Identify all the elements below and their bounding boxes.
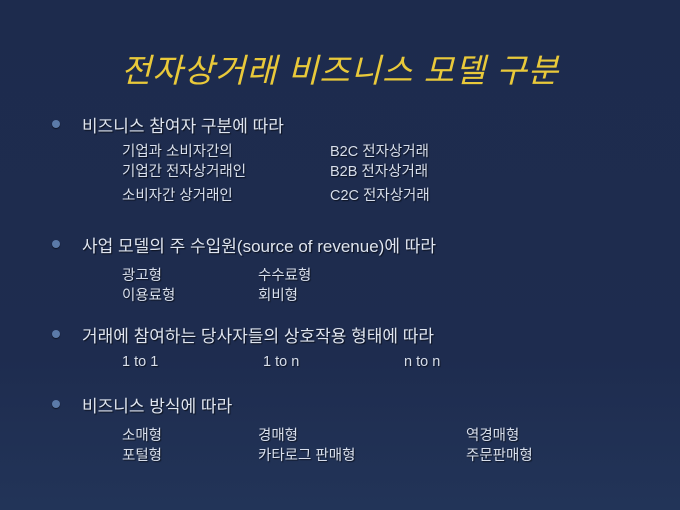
- sub-rows-3: 1 to 1 1 to n n to n: [0, 354, 680, 374]
- bullet-section-3: 거래에 참여하는 당사자들의 상호작용 형태에 따라 1 to 1 1 to n…: [0, 320, 680, 374]
- bullet-label-3: 거래에 참여하는 당사자들의 상호작용 형태에 따라: [82, 322, 434, 347]
- sub-rows-4: 소매형 경매형 역경매형 포털형 카타로그 판매형 주문판매형: [0, 424, 680, 464]
- spacer: [0, 204, 680, 230]
- sub-cell-col1: 광고형: [122, 264, 162, 285]
- sub-cell-col1: 소비자간 상거래인: [122, 184, 233, 205]
- spacer: [0, 304, 680, 320]
- sub-cell-col1: 소매형: [122, 424, 162, 445]
- sub-cell-col1: 기업과 소비자간의: [122, 140, 233, 161]
- sub-cell-col2: B2C 전자상거래: [330, 140, 429, 161]
- bullet-row-3[interactable]: 거래에 참여하는 당사자들의 상호작용 형태에 따라: [0, 320, 680, 348]
- sub-cell-col2: B2B 전자상거래: [330, 160, 428, 181]
- sub-row: 소매형 경매형 역경매형: [0, 424, 680, 444]
- sub-row: 1 to 1 1 to n n to n: [0, 354, 680, 374]
- bullet-section-2: 사업 모델의 주 수입원(source of revenue)에 따라 광고형 …: [0, 230, 680, 304]
- sub-cell-col3: 주문판매형: [466, 444, 533, 465]
- sub-cell-col2: 경매형: [258, 424, 298, 445]
- bullet-dot-icon: [52, 330, 60, 338]
- sub-cell-col3: n to n: [404, 354, 440, 370]
- sub-cell-col1: 포털형: [122, 444, 162, 465]
- sub-cell-col2: C2C 전자상거래: [330, 184, 430, 205]
- bullet-section-1: 비즈니스 참여자 구분에 따라 기업과 소비자간의 B2C 전자상거래 기업간 …: [0, 110, 680, 204]
- sub-cell-col3: 역경매형: [466, 424, 519, 445]
- sub-row: 이용료형 회비형: [0, 284, 680, 304]
- bullet-dot-icon: [52, 400, 60, 408]
- bullet-row-1[interactable]: 비즈니스 참여자 구분에 따라: [0, 110, 680, 138]
- sub-row: 기업과 소비자간의 B2C 전자상거래: [0, 140, 680, 160]
- page-title: 전자상거래 비즈니스 모델 구분: [0, 44, 680, 92]
- bullet-row-2[interactable]: 사업 모델의 주 수입원(source of revenue)에 따라: [0, 230, 680, 258]
- sub-cell-col1: 기업간 전자상거래인: [122, 160, 246, 181]
- sub-row: 기업간 전자상거래인 B2B 전자상거래: [0, 160, 680, 180]
- spacer: [0, 374, 680, 390]
- bullet-section-4: 비즈니스 방식에 따라 소매형 경매형 역경매형 포털형 카타로그 판매형 주문…: [0, 390, 680, 464]
- sub-rows-2: 광고형 수수료형 이용료형 회비형: [0, 264, 680, 304]
- sub-cell-col1: 1 to 1: [122, 354, 158, 370]
- sub-row: 소비자간 상거래인 C2C 전자상거래: [0, 180, 680, 204]
- bullet-row-4[interactable]: 비즈니스 방식에 따라: [0, 390, 680, 418]
- bullet-label-2: 사업 모델의 주 수입원(source of revenue)에 따라: [82, 232, 436, 257]
- slide: 전자상거래 비즈니스 모델 구분 비즈니스 참여자 구분에 따라 기업과 소비자…: [0, 0, 680, 510]
- sub-row: 광고형 수수료형: [0, 264, 680, 284]
- sub-cell-col1: 이용료형: [122, 284, 175, 305]
- bullet-dot-icon: [52, 120, 60, 128]
- sub-row: 포털형 카타로그 판매형 주문판매형: [0, 444, 680, 464]
- bullet-label-1: 비즈니스 참여자 구분에 따라: [82, 112, 284, 137]
- sub-rows-1: 기업과 소비자간의 B2C 전자상거래 기업간 전자상거래인 B2B 전자상거래…: [0, 140, 680, 204]
- sub-cell-col2: 1 to n: [263, 354, 299, 370]
- sub-cell-col2: 회비형: [258, 284, 298, 305]
- bullet-dot-icon: [52, 240, 60, 248]
- sub-cell-col2: 수수료형: [258, 264, 311, 285]
- slide-body: 비즈니스 참여자 구분에 따라 기업과 소비자간의 B2C 전자상거래 기업간 …: [0, 110, 680, 464]
- sub-cell-col2: 카타로그 판매형: [258, 444, 355, 465]
- bullet-label-4: 비즈니스 방식에 따라: [82, 392, 232, 417]
